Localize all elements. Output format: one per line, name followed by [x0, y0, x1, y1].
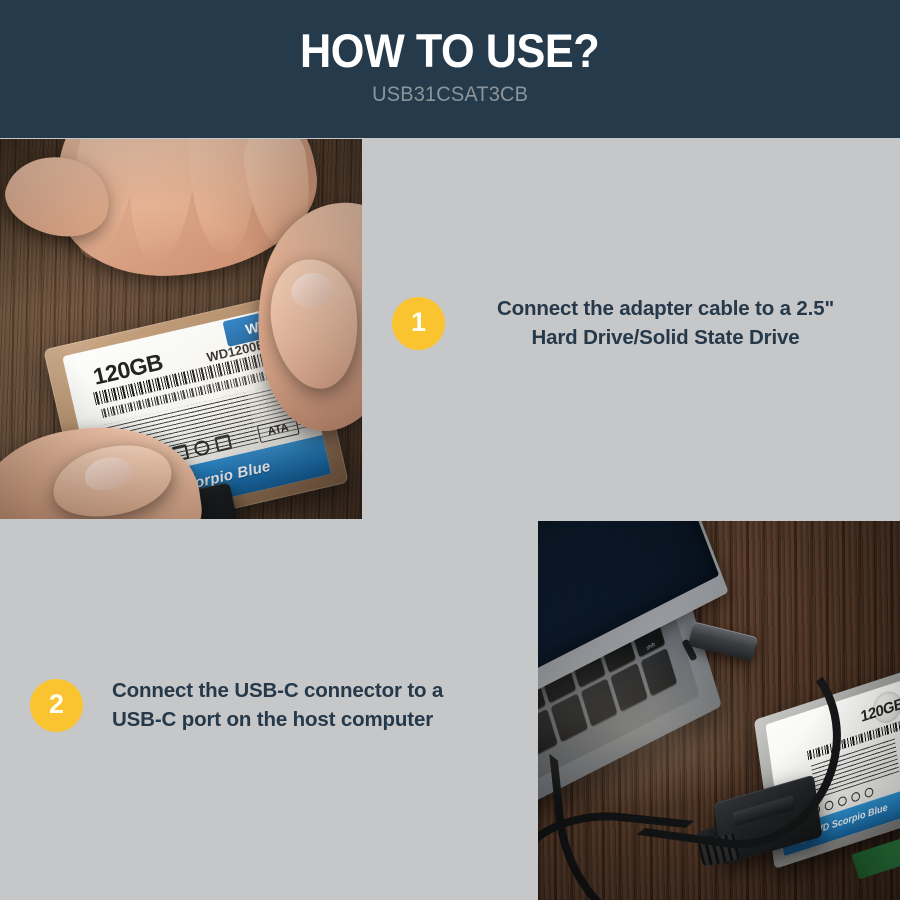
- step-2-text-panel: 2 Connect the USB-C connector to a USB-C…: [0, 521, 538, 900]
- page-header: HOW TO USE? USB31CSAT3CB: [0, 0, 900, 138]
- photo-hand-holding-hard-drive: WD 120GB WD1200BEVT ATA: [0, 139, 362, 519]
- step-2-instruction: Connect the USB-C connector to a USB-C p…: [112, 676, 507, 734]
- step-2-line-1: Connect the USB-C connector to a: [112, 676, 507, 705]
- photo-vignette: [538, 521, 900, 900]
- step-1-line-2: Hard Drive/Solid State Drive: [478, 323, 853, 352]
- step-2: 2 Connect the USB-C connector to a USB-C…: [30, 676, 510, 734]
- step-2-badge: 2: [30, 679, 83, 732]
- step-1: 1 Connect the adapter cable to a 2.5" Ha…: [392, 294, 872, 352]
- photo-laptop-with-adapter: delete return shift: [538, 521, 900, 900]
- step-1-text-panel: 1 Connect the adapter cable to a 2.5" Ha…: [362, 139, 900, 519]
- step-2-line-2: USB-C port on the host computer: [112, 705, 507, 734]
- page-title: HOW TO USE?: [300, 26, 599, 76]
- step-1-photo: WD 120GB WD1200BEVT ATA: [0, 139, 362, 519]
- step-1-instruction: Connect the adapter cable to a 2.5" Hard…: [478, 294, 853, 352]
- step-1-badge: 1: [392, 297, 445, 350]
- how-to-use-infographic: HOW TO USE? USB31CSAT3CB WD 120GB WD1200…: [0, 0, 900, 900]
- step-2-photo: delete return shift: [538, 521, 900, 900]
- product-sku: USB31CSAT3CB: [372, 83, 528, 107]
- step-1-line-1: Connect the adapter cable to a 2.5": [478, 294, 853, 323]
- photo-vignette: [0, 139, 362, 519]
